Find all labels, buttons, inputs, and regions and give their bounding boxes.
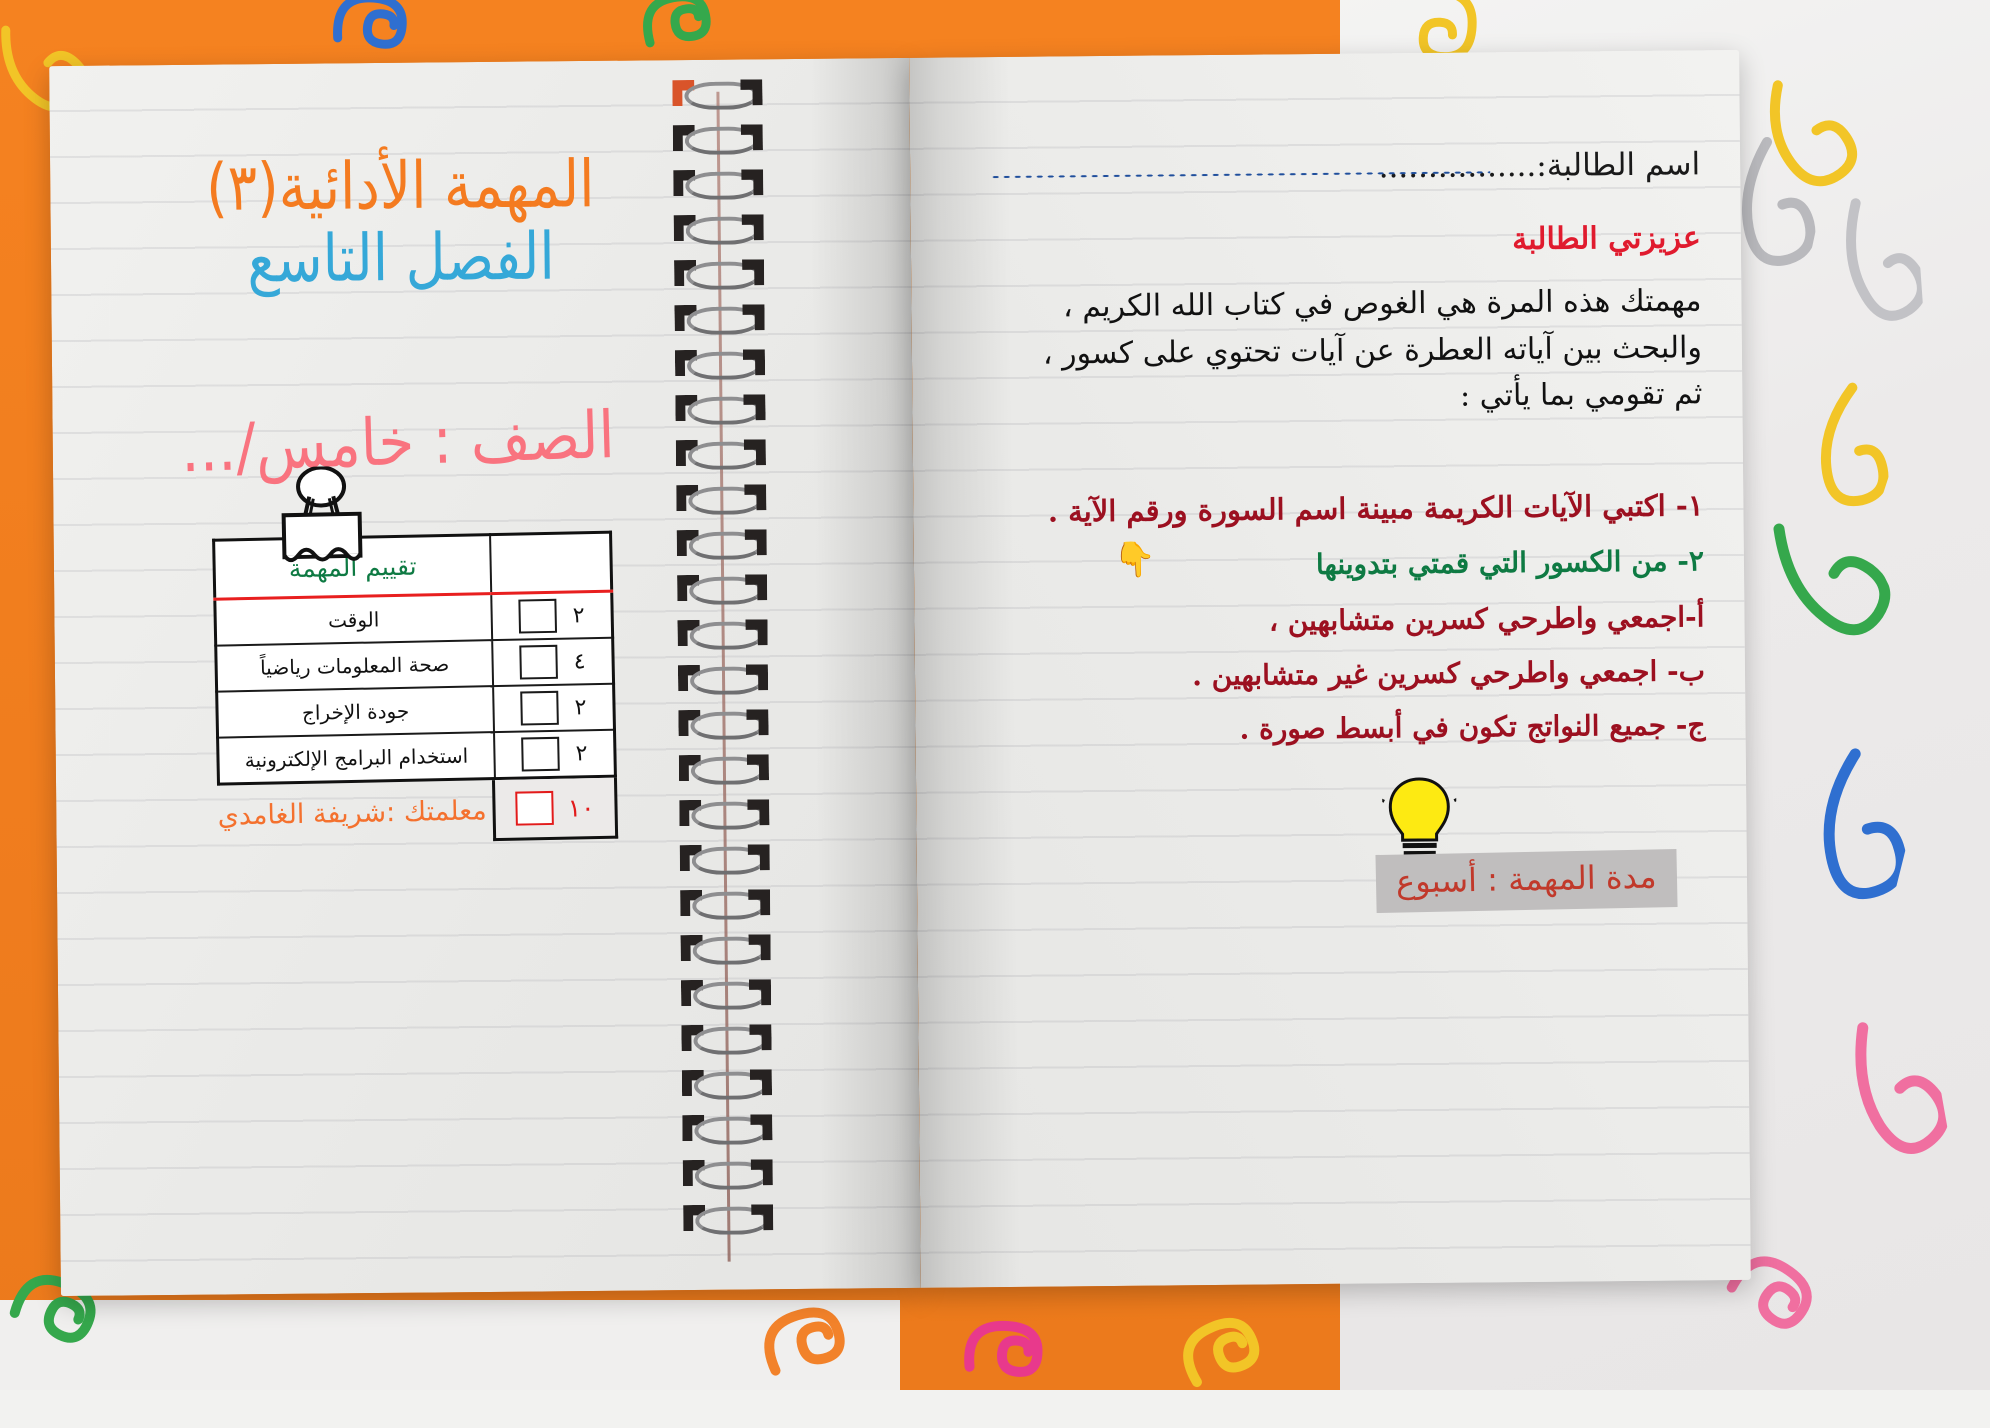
rubric-criterion-3: استخدام البرامج الإلكترونية <box>218 732 495 784</box>
student-name-field: اسم الطالبة:................ <box>1378 146 1700 185</box>
spiral-coil <box>673 169 763 200</box>
rubric-criterion-2: جودة الإخراج <box>217 686 494 738</box>
spiral-coil <box>681 934 771 965</box>
spiral-coil <box>678 664 768 695</box>
task-item-2: ٢- من الكسور التي قمتي بتدوينها <box>1316 544 1704 581</box>
table-row: ٢ جودة الإخراج <box>217 684 615 738</box>
spiral-coil <box>672 79 762 110</box>
rubric-total-box: ١٠ <box>492 778 618 841</box>
rubric-checkbox-2[interactable] <box>520 691 559 726</box>
grade-field: الصف : خامس/... <box>162 396 634 488</box>
rubric-total-value: ١٠ <box>567 793 594 823</box>
rubric-criterion-1: صحة المعلومات رياضياً <box>216 640 493 692</box>
greeting-text: عزيزتي الطالبة <box>1512 220 1701 257</box>
rubric-score-value-1: ٤ <box>573 649 585 674</box>
spiral-coil <box>679 799 769 830</box>
spiral-coil <box>682 1069 772 1100</box>
rubric-score-cell-1: ٤ <box>492 638 613 686</box>
intro-line-0: مهمتك هذه المرة هي الغوص في كتاب الله ال… <box>1001 278 1701 331</box>
rubric-score-cell-0: ٢ <box>491 591 612 640</box>
pointing-finger-icon: 👇 <box>1113 540 1156 580</box>
spiral-binding <box>664 69 796 1280</box>
spiral-coil <box>676 439 766 470</box>
spiral-coil <box>680 844 770 875</box>
intro-paragraph: مهمتك هذه المرة هي الغوص في كتاب الله ال… <box>1001 278 1702 424</box>
spiral-coil <box>679 754 769 785</box>
spiral-coil <box>683 1159 773 1190</box>
rubric-score-value-3: ٢ <box>575 741 587 766</box>
rubric-checkbox-1[interactable] <box>519 645 558 680</box>
table-row: ٢ الوقت <box>215 591 613 645</box>
rubric-score-value-2: ٢ <box>574 695 586 720</box>
spiral-coil <box>677 619 767 650</box>
notebook-right-page: اسم الطالبة:................ عزيزتي الطا… <box>909 50 1751 1288</box>
spiral-coil <box>682 1114 772 1145</box>
spiral-coil <box>683 1204 773 1235</box>
task-item-1: ١- اكتبي الآيات الكريمة مبينة اسم السورة… <box>1048 488 1704 528</box>
rubric-criterion-0: الوقت <box>215 594 492 646</box>
page-title: المهمة الأدائية(٣) الفصل التاسع <box>190 156 611 290</box>
rubric-header-score-cell <box>490 532 612 593</box>
spiral-coil <box>681 979 771 1010</box>
paperclip-silver-right <box>1825 187 1925 343</box>
notebook: المهمة الأدائية(٣) الفصل التاسع الصف : خ… <box>49 50 1751 1296</box>
spiral-coil <box>675 394 765 425</box>
spiral-coil <box>674 304 764 335</box>
chapter-title: الفصل التاسع <box>191 222 612 294</box>
rubric-checkbox-0[interactable] <box>518 599 557 634</box>
spiral-coil <box>677 574 767 605</box>
duration-badge: مدة المهمة : أسبوع <box>1376 849 1678 913</box>
spiral-coil <box>674 259 764 290</box>
teacher-name-label: معلمتك :شريفة الغامدي <box>217 780 493 847</box>
rubric-checkbox-3[interactable] <box>521 737 560 772</box>
task-title: المهمة الأدائية(٣) <box>190 151 611 223</box>
spiral-coil <box>680 889 770 920</box>
task-subitem-c: ج- جميع النواتج تكون في أبسط صورة . <box>1239 708 1705 745</box>
spiral-coil <box>674 214 764 245</box>
table-row: ٤ صحة المعلومات رياضياً <box>216 638 614 692</box>
binder-clip-icon <box>261 465 383 572</box>
table-row: ٢ استخدام البرامج الإلكترونية <box>218 730 616 784</box>
intro-line-1: والبحث بين آياته العطرة عن آيات تحتوي عل… <box>1002 325 1702 378</box>
spiral-coil <box>677 529 767 560</box>
paperclip-pink-bottom2 <box>956 1314 1085 1416</box>
rubric-total-row: ١٠ معلمتك :شريفة الغامدي <box>217 778 618 847</box>
intro-line-2: ثم تقومي بما يأتي : <box>1002 371 1702 424</box>
rubric-total-checkbox[interactable] <box>515 791 554 826</box>
rubric-score-value-0: ٢ <box>573 603 585 628</box>
rubric-score-cell-2: ٢ <box>493 684 614 732</box>
rubric-table-wrapper: تقييم المهمة ٢ الوقت <box>212 531 618 847</box>
spiral-coil <box>681 1024 771 1055</box>
task-subitem-b: ب- اجمعي واطرحي كسرين غير متشابهين . <box>1192 654 1705 692</box>
spiral-coil <box>676 484 766 515</box>
spiral-coil <box>673 124 763 155</box>
spiral-coil <box>678 709 768 740</box>
spiral-coil <box>675 349 765 380</box>
rubric-score-cell-3: ٢ <box>494 730 615 779</box>
task-subitem-a: أ-اجمعي واطرحي كسرين متشابهين ، <box>1269 600 1705 637</box>
